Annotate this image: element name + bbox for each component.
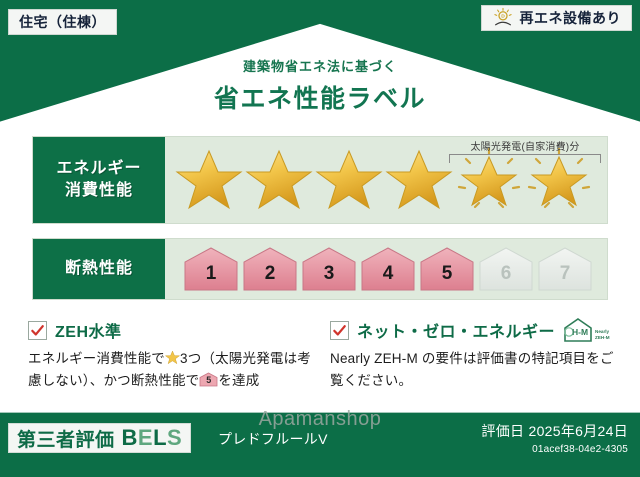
insulation-performance-panel: 断熱性能 1 2 bbox=[32, 238, 608, 300]
solar-sun-icon: D bbox=[492, 7, 514, 29]
nzeb-note-body: Nearly ZEH-M の要件は評価書の特記項目をご覧ください。 bbox=[330, 348, 622, 392]
inline-star-icon bbox=[165, 350, 180, 365]
building-name: プレドフルールV bbox=[218, 429, 328, 449]
zeh-note-body: エネルギー消費性能で3つ（太陽光発電は考慮しない）、かつ断熱性能で5を達成 bbox=[28, 348, 318, 392]
evaluation-id: 01acef38-04e2-4305 bbox=[481, 444, 628, 455]
evaluation-date: 評価日 2025年6月24日 bbox=[481, 421, 628, 441]
insulation-performance-label-box: 断熱性能 bbox=[33, 239, 165, 299]
energy-performance-stars-area: 太陽光発電(自家消費)分 bbox=[165, 137, 607, 223]
energy-performance-label-box: エネルギー 消費性能 bbox=[33, 137, 165, 223]
bels-logo: BELS bbox=[122, 427, 183, 449]
insulation-level-badge: 3 bbox=[301, 246, 357, 292]
insulation-level-badge: 6 bbox=[478, 246, 534, 292]
inline-badge-number: 5 bbox=[199, 372, 218, 387]
svg-text:D: D bbox=[501, 14, 505, 20]
insulation-level-row: 1 2 3 4 5 bbox=[175, 246, 593, 292]
nearly-zeh-m-caption: Nearly ZEH-M bbox=[595, 329, 610, 343]
renewable-equipment-label: 再エネ設備あり bbox=[520, 8, 622, 28]
bels-certification-chip: 第三者評価 BELS bbox=[8, 423, 191, 453]
insulation-levels-area: 1 2 3 4 5 bbox=[165, 239, 607, 299]
zeh-note-text-part3: を達成 bbox=[218, 373, 259, 388]
nzeb-checkbox[interactable] bbox=[330, 321, 349, 340]
housing-type-chip: 住宅（住棟） bbox=[8, 9, 117, 35]
zeh-note-text-part1: エネルギー消費性能で bbox=[28, 351, 165, 366]
footer: 第三者評価 BELS プレドフルールV 評価日 2025年6月24日 01ace… bbox=[0, 413, 640, 477]
insulation-level-number: 6 bbox=[501, 264, 512, 292]
insulation-level-badge: 4 bbox=[360, 246, 416, 292]
evaluation-info: 評価日 2025年6月24日 01acef38-04e2-4305 bbox=[481, 421, 628, 455]
insulation-level-number: 2 bbox=[265, 264, 276, 292]
star-icon bbox=[245, 147, 313, 213]
renewable-equipment-chip: D 再エネ設備あり bbox=[481, 5, 633, 31]
title-subtitle: 建築物省エネ法に基づく bbox=[0, 56, 640, 75]
star-icon bbox=[175, 147, 243, 213]
check-icon bbox=[30, 323, 45, 338]
insulation-level-number: 5 bbox=[442, 264, 453, 292]
bels-letter-s: S bbox=[167, 425, 182, 450]
zeh-checkbox[interactable] bbox=[28, 321, 47, 340]
nzeb-note-title: ネット・ゼロ・エネルギー bbox=[357, 318, 555, 342]
title-main: 省エネ性能ラベル bbox=[0, 79, 640, 115]
nzeb-note-header: ネット・ゼロ・エネルギー H-M Nearly ZEH-M bbox=[330, 318, 622, 342]
sparkle-star-icon bbox=[455, 147, 523, 213]
check-icon bbox=[332, 323, 347, 338]
star-icon bbox=[315, 147, 383, 213]
insulation-level-number: 1 bbox=[206, 264, 217, 292]
zeh-note-title: ZEH水準 bbox=[55, 318, 122, 342]
housing-type-label: 住宅（住棟） bbox=[19, 12, 106, 32]
insulation-level-badge: 2 bbox=[242, 246, 298, 292]
star-icon bbox=[385, 147, 453, 213]
energy-label-line1: エネルギー bbox=[56, 158, 141, 180]
energy-performance-panel: エネルギー 消費性能 bbox=[32, 136, 608, 224]
title-block: 建築物省エネ法に基づく 省エネ性能ラベル bbox=[0, 56, 640, 115]
insulation-level-badge: 1 bbox=[183, 246, 239, 292]
net-zero-energy-note: ネット・ゼロ・エネルギー H-M Nearly ZEH-M Nearly ZEH… bbox=[330, 318, 622, 392]
svg-text:H-M: H-M bbox=[572, 327, 588, 337]
nzeb-caption-line2: ZEH-M bbox=[595, 335, 610, 340]
house-hm-icon: H-M bbox=[563, 317, 593, 343]
zeh-note-header: ZEH水準 bbox=[28, 318, 318, 342]
energy-label-line2: 消費性能 bbox=[65, 180, 133, 202]
bels-letter-b: B bbox=[122, 425, 138, 450]
insulation-label: 断熱性能 bbox=[65, 258, 133, 280]
insulation-level-badge: 5 bbox=[419, 246, 475, 292]
sparkle-star-icon bbox=[525, 147, 593, 213]
inline-insulation-badge: 5 bbox=[199, 372, 218, 387]
zeh-standard-note: ZEH水準 エネルギー消費性能で3つ（太陽光発電は考慮しない）、かつ断熱性能で5… bbox=[28, 318, 318, 392]
nearly-zeh-m-logo: H-M Nearly ZEH-M bbox=[563, 317, 610, 343]
insulation-level-number: 3 bbox=[324, 264, 335, 292]
bels-letter-e: E bbox=[138, 425, 153, 450]
insulation-level-number: 7 bbox=[560, 264, 571, 292]
third-party-evaluation-label: 第三者評価 bbox=[17, 425, 115, 452]
star-rating bbox=[175, 147, 593, 213]
insulation-level-badge: 7 bbox=[537, 246, 593, 292]
bels-letter-l: L bbox=[153, 425, 167, 450]
nzeb-caption-line1: Nearly bbox=[595, 329, 609, 334]
insulation-level-number: 4 bbox=[383, 264, 394, 292]
energy-performance-label: 住宅（住棟） D 再エネ設備あり 建築物省エネ法に基づく 省エネ性能ラベル bbox=[0, 0, 640, 477]
